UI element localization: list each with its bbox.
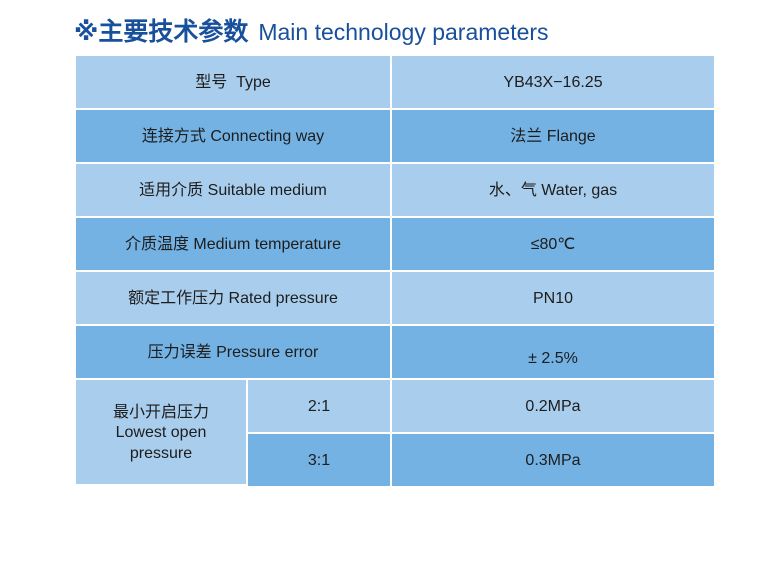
label-cn: 型号 bbox=[195, 72, 227, 91]
table-row: 最小开启压力 Lowest open pressure 2:1 0.2MPa bbox=[76, 380, 714, 434]
title-marker-icon: ※ bbox=[74, 17, 98, 46]
label-en: Suitable medium bbox=[208, 182, 327, 199]
row-ratio-3-1: 3:1 bbox=[248, 434, 392, 486]
row-value-type: YB43X−16.25 bbox=[392, 56, 714, 110]
label-line-1: 最小开启压力 bbox=[80, 401, 242, 422]
value-cn: 水、气 bbox=[489, 180, 537, 199]
row-label-pressure-error: 压力误差 Pressure error bbox=[76, 326, 392, 380]
label-line-2: Lowest open bbox=[80, 422, 242, 443]
row-value-suitable-medium: 水、气 Water, gas bbox=[392, 164, 714, 218]
label-cn: 介质温度 bbox=[125, 234, 189, 253]
table-row: 型号 Type YB43X−16.25 bbox=[76, 56, 714, 110]
row-ratio-2-1: 2:1 bbox=[248, 380, 392, 434]
label-en: Medium temperature bbox=[193, 236, 341, 253]
title-english: Main technology parameters bbox=[258, 19, 548, 45]
slide-page: ※主要技术参数Main technology parameters 型号 Typ… bbox=[0, 0, 778, 588]
row-label-medium-temperature: 介质温度 Medium temperature bbox=[76, 218, 392, 272]
row-value-rated-pressure: PN10 bbox=[392, 272, 714, 326]
row-value-2-1: 0.2MPa bbox=[392, 380, 714, 434]
row-label-rated-pressure: 额定工作压力 Rated pressure bbox=[76, 272, 392, 326]
label-line-3: pressure bbox=[80, 443, 242, 464]
row-value-3-1: 0.3MPa bbox=[392, 434, 714, 486]
page-title: ※主要技术参数Main technology parameters bbox=[74, 16, 549, 48]
table-row: 额定工作压力 Rated pressure PN10 bbox=[76, 272, 714, 326]
label-cn: 压力误差 bbox=[148, 342, 212, 361]
table-row: 压力误差 Pressure error ± 2.5% bbox=[76, 326, 714, 380]
label-cn: 额定工作压力 bbox=[128, 288, 224, 307]
label-en: Type bbox=[236, 74, 271, 91]
row-value-medium-temperature: ≤80℃ bbox=[392, 218, 714, 272]
label-en: Rated pressure bbox=[229, 290, 338, 307]
value-en: Water, gas bbox=[541, 182, 617, 199]
specifications-table: 型号 Type YB43X−16.25 连接方式 Connecting way … bbox=[76, 56, 714, 486]
row-label-suitable-medium: 适用介质 Suitable medium bbox=[76, 164, 392, 218]
label-cn: 适用介质 bbox=[139, 180, 203, 199]
row-value-pressure-error: ± 2.5% bbox=[392, 326, 714, 380]
title-chinese: 主要技术参数 bbox=[98, 17, 248, 46]
table-row: 介质温度 Medium temperature ≤80℃ bbox=[76, 218, 714, 272]
value-text: ± 2.5% bbox=[528, 350, 578, 367]
row-label-connecting-way: 连接方式 Connecting way bbox=[76, 110, 392, 164]
row-label-type: 型号 Type bbox=[76, 56, 392, 110]
label-en: Pressure error bbox=[216, 344, 318, 361]
value-en: Flange bbox=[547, 128, 596, 145]
value-cn: 法兰 bbox=[510, 126, 542, 145]
label-en: Connecting way bbox=[210, 128, 324, 145]
table-row: 连接方式 Connecting way 法兰 Flange bbox=[76, 110, 714, 164]
row-label-lowest-open-pressure: 最小开启压力 Lowest open pressure bbox=[76, 380, 248, 486]
label-cn: 连接方式 bbox=[142, 126, 206, 145]
row-value-connecting-way: 法兰 Flange bbox=[392, 110, 714, 164]
table-row: 适用介质 Suitable medium 水、气 Water, gas bbox=[76, 164, 714, 218]
